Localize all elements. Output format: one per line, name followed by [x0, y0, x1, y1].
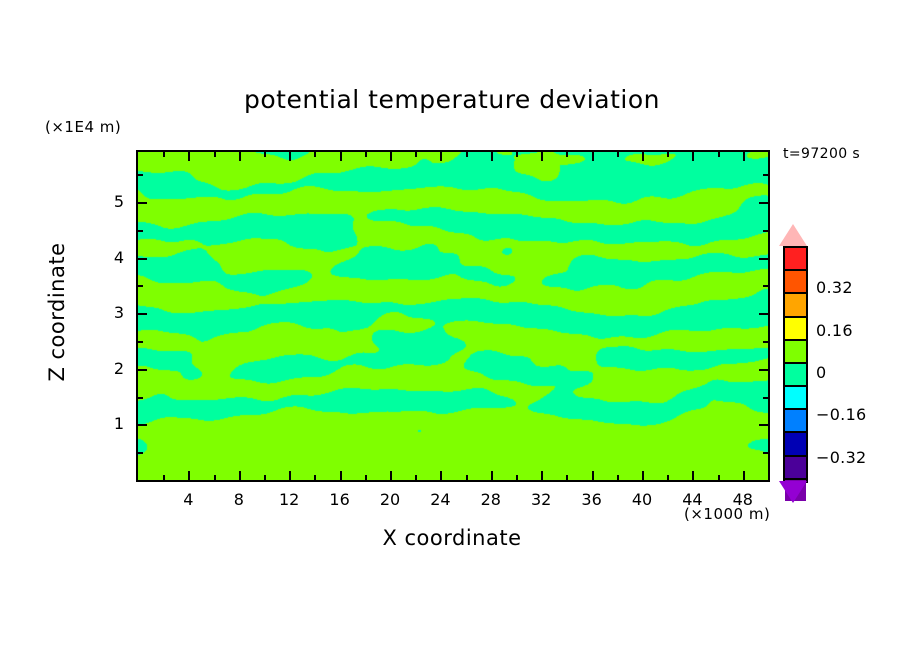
- colorbar-band: [785, 457, 806, 480]
- tick-mark: [566, 152, 568, 157]
- x-tick-label: 4: [168, 490, 208, 509]
- tick-mark: [592, 152, 594, 161]
- tick-mark: [214, 152, 216, 157]
- tick-mark: [466, 152, 468, 157]
- x-tick-label: 8: [219, 490, 259, 509]
- colorbar-tick-label: 0.32: [816, 278, 853, 297]
- tick-mark: [138, 174, 143, 176]
- tick-mark: [759, 258, 768, 260]
- tick-mark: [138, 452, 143, 454]
- tick-mark: [188, 152, 190, 161]
- tick-mark: [138, 202, 147, 204]
- tick-mark: [289, 471, 291, 480]
- tick-mark: [759, 202, 768, 204]
- tick-mark: [264, 152, 266, 157]
- contour-field: [138, 152, 768, 480]
- tick-mark: [541, 152, 543, 161]
- tick-mark: [763, 230, 768, 232]
- tick-mark: [692, 471, 694, 480]
- y-tick-label: 5: [84, 192, 124, 211]
- tick-mark: [138, 369, 147, 371]
- colorbar: [783, 246, 808, 483]
- y-tick-label: 3: [84, 303, 124, 322]
- colorbar-band: [785, 341, 806, 364]
- x-tick-label: 24: [420, 490, 460, 509]
- tick-mark: [239, 471, 241, 480]
- tick-mark: [138, 230, 143, 232]
- tick-mark: [516, 152, 518, 157]
- colorbar-tick-label: −0.32: [816, 448, 867, 467]
- y-tick-label: 1: [84, 414, 124, 433]
- plot-area: [136, 150, 770, 482]
- x-tick-label: 44: [672, 490, 712, 509]
- colorbar-band: [785, 433, 806, 456]
- tick-mark: [566, 475, 568, 480]
- tick-mark: [340, 152, 342, 161]
- colorbar-tick-label: −0.16: [816, 405, 867, 424]
- tick-mark: [415, 475, 417, 480]
- y-tick-label: 4: [84, 248, 124, 267]
- tick-mark: [365, 475, 367, 480]
- tick-mark: [214, 475, 216, 480]
- colorbar-band: [785, 294, 806, 317]
- x-tick-label: 28: [471, 490, 511, 509]
- x-tick-label: 48: [723, 490, 763, 509]
- tick-mark: [138, 341, 143, 343]
- tick-mark: [314, 475, 316, 480]
- tick-mark: [138, 424, 147, 426]
- x-axis-title: X coordinate: [0, 526, 904, 550]
- tick-mark: [759, 313, 768, 315]
- tick-mark: [743, 471, 745, 480]
- tick-mark: [289, 152, 291, 161]
- tick-mark: [314, 152, 316, 157]
- tick-mark: [188, 471, 190, 480]
- colorbar-band: [785, 410, 806, 433]
- tick-mark: [592, 471, 594, 480]
- x-tick-label: 20: [370, 490, 410, 509]
- tick-mark: [759, 424, 768, 426]
- y-axis-title: Z coordinate: [45, 232, 69, 392]
- tick-mark: [340, 471, 342, 480]
- colorbar-overflow-top-icon: [779, 224, 807, 246]
- tick-mark: [138, 285, 143, 287]
- tick-mark: [440, 471, 442, 480]
- x-tick-label: 40: [622, 490, 662, 509]
- tick-mark: [138, 313, 147, 315]
- colorbar-band: [785, 364, 806, 387]
- tick-mark: [491, 152, 493, 161]
- page-title: potential temperature deviation: [0, 85, 904, 114]
- figure-canvas: potential temperature deviation (×1E4 m)…: [0, 0, 904, 654]
- colorbar-tick-label: 0.16: [816, 321, 853, 340]
- tick-mark: [138, 397, 143, 399]
- tick-mark: [759, 369, 768, 371]
- x-tick-label: 36: [572, 490, 612, 509]
- tick-mark: [466, 475, 468, 480]
- tick-mark: [264, 475, 266, 480]
- tick-mark: [763, 341, 768, 343]
- time-annotation: t=97200 s: [783, 146, 860, 162]
- tick-mark: [617, 475, 619, 480]
- tick-mark: [440, 152, 442, 161]
- tick-mark: [163, 475, 165, 480]
- tick-mark: [763, 285, 768, 287]
- tick-mark: [138, 258, 147, 260]
- tick-mark: [617, 152, 619, 157]
- tick-mark: [415, 152, 417, 157]
- tick-mark: [365, 152, 367, 157]
- tick-mark: [642, 152, 644, 161]
- tick-mark: [239, 152, 241, 161]
- x-tick-label: 32: [521, 490, 561, 509]
- tick-mark: [390, 471, 392, 480]
- colorbar-overflow-bottom-icon: [779, 481, 807, 503]
- tick-mark: [743, 152, 745, 161]
- x-tick-label: 16: [320, 490, 360, 509]
- colorbar-band: [785, 387, 806, 410]
- tick-mark: [763, 174, 768, 176]
- tick-mark: [763, 397, 768, 399]
- colorbar-band: [785, 271, 806, 294]
- colorbar-band: [785, 248, 806, 271]
- tick-mark: [390, 152, 392, 161]
- colorbar-tick-label: 0: [816, 363, 826, 382]
- colorbar-band: [785, 318, 806, 341]
- tick-mark: [763, 452, 768, 454]
- tick-mark: [667, 152, 669, 157]
- tick-mark: [667, 475, 669, 480]
- tick-mark: [718, 475, 720, 480]
- y-tick-label: 2: [84, 359, 124, 378]
- x-tick-label: 12: [269, 490, 309, 509]
- tick-mark: [718, 152, 720, 157]
- tick-mark: [642, 471, 644, 480]
- y-axis-unit-label: (×1E4 m): [45, 118, 121, 136]
- tick-mark: [491, 471, 493, 480]
- tick-mark: [692, 152, 694, 161]
- tick-mark: [541, 471, 543, 480]
- tick-mark: [516, 475, 518, 480]
- tick-mark: [163, 152, 165, 157]
